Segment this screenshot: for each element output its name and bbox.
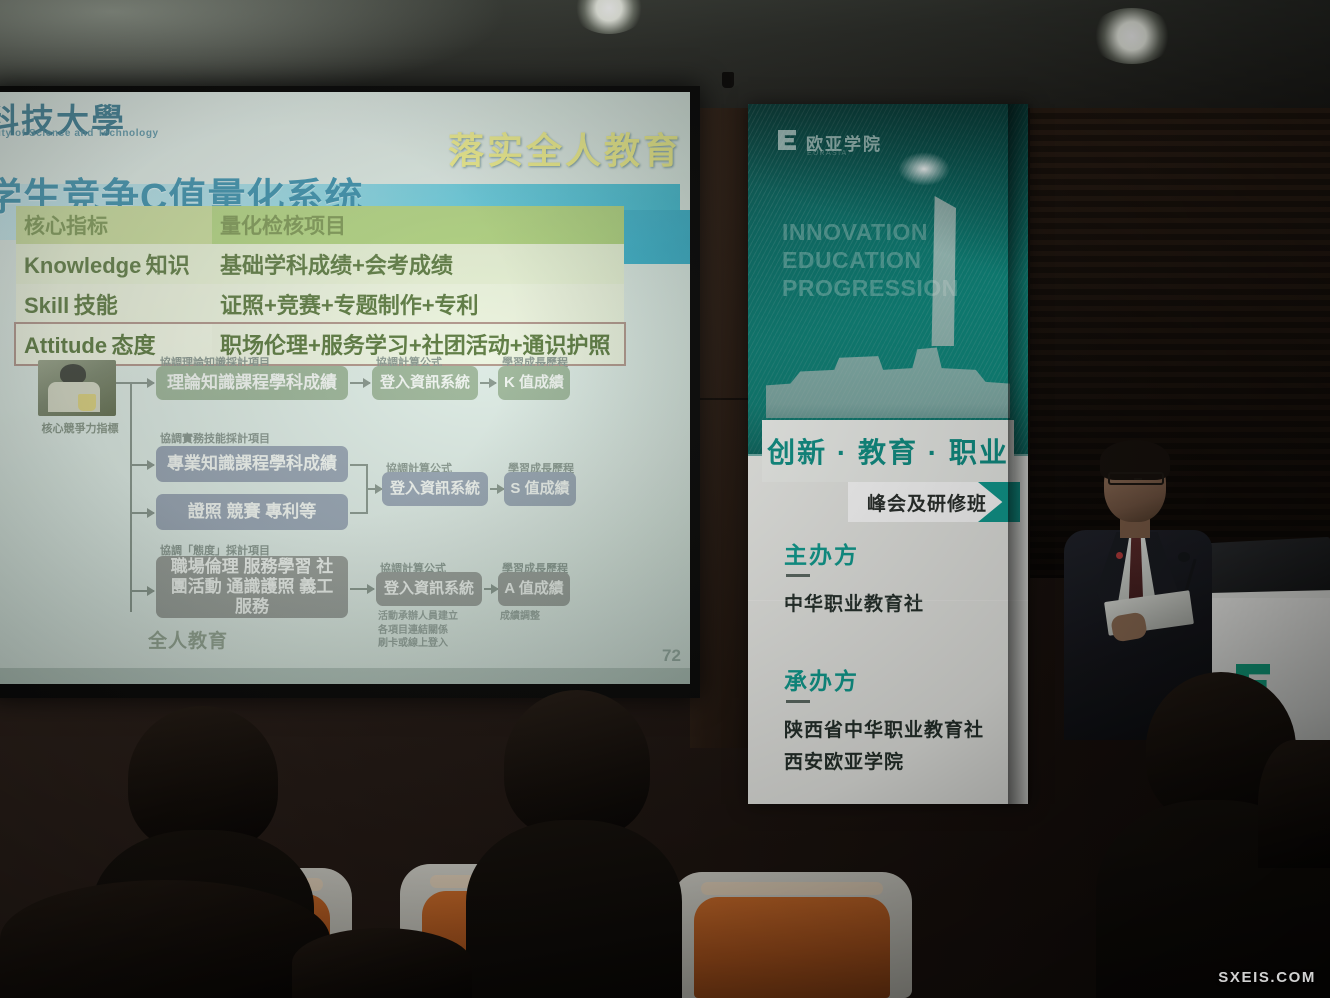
attendee-head (1258, 740, 1330, 868)
ceiling-fitting (722, 72, 734, 88)
flow-arrow (350, 382, 370, 384)
seat (672, 872, 912, 998)
flow-box-login-1: 登入資訊系統 (372, 366, 478, 400)
banner-subtitle: 峰会及研修班 (852, 482, 1002, 522)
flow-arrow (490, 488, 504, 490)
flow-arrow (480, 382, 496, 384)
banner-org-host: 中华职业教育社 (784, 590, 924, 619)
connector-stub (116, 382, 132, 384)
attendee-head (0, 880, 330, 998)
flow-arrow (350, 588, 374, 590)
core-competency-photo (38, 360, 116, 416)
banner-english-line: INNOVATION (782, 220, 928, 244)
table-cell-items: 证照+竞赛+专题制作+专利 (212, 284, 624, 324)
watermark: SXEIS.COM (1218, 969, 1316, 986)
banner-english-line: PROGRESSION (782, 276, 959, 300)
flow-caption-2: 協調實務技能採計項目 (160, 430, 270, 446)
flow-arrow (484, 588, 498, 590)
banner-glare (898, 152, 950, 186)
ceiling-light-icon (1090, 8, 1174, 64)
slide-flow-diagram: 核心競爭力指標 協調理論知識採計項目 理論知識課程學科成績 協調計算公式 登入資… (14, 352, 634, 662)
flow-arrow (132, 590, 154, 592)
flow-box-theory: 理論知識課程學科成績 (156, 366, 348, 400)
banner-slogan: 创新 · 教育 · 职业 (762, 420, 1014, 482)
indicator-cn: 知识 (146, 253, 190, 278)
indicator-en: Skill (24, 293, 69, 318)
flow-note-formula: 活動承辦人員建立 各項目連結關係 刷卡或線上登入 (378, 610, 458, 651)
flow-arrow (366, 488, 382, 490)
speaker-lapel-pin (1116, 552, 1123, 559)
photo-scene: 科技大學 ...ity of Science and Technology 落实… (0, 0, 1330, 998)
flow-arrow (132, 382, 154, 384)
table-header-label: 量化检核项目 (220, 215, 346, 238)
flow-box-major: 專業知識課程學科成績 (156, 446, 348, 482)
slide-table: 核心指标 量化检核项目 Knowledge 知识 基础学科成绩+会考成绩 Ski… (16, 206, 624, 364)
attendee-head (292, 928, 472, 998)
screen-bottom-edge (0, 668, 690, 684)
holistic-education-label: 全人教育 (148, 626, 228, 653)
flow-box-login-2: 登入資訊系統 (382, 472, 488, 506)
indicator-en: Knowledge (24, 253, 141, 278)
flow-box-attitude: 職場倫理 服務學習 社團活動 通識護照 義工服務 (156, 556, 348, 618)
flow-box-svalue: S 值成績 (504, 472, 576, 506)
table-cell-items: 基础学科成绩+会考成绩 (212, 244, 624, 284)
flow-note-result: 成績調整 (500, 610, 540, 624)
table-header-cell: 量化检核项目 (212, 206, 624, 244)
flow-box-kvalue: K 值成績 (498, 366, 570, 400)
flow-box-avalue: A 值成績 (498, 572, 570, 606)
table-cell-indicator: Knowledge 知识 (16, 244, 212, 284)
table-header-label: 核心指标 (24, 215, 108, 238)
banner-rule (786, 574, 810, 577)
slide-page-number: 72 (662, 646, 681, 666)
banner-org-organizer-2: 西安欧亚学院 (784, 748, 904, 777)
table-header-row: 核心指标 量化检核项目 (16, 206, 624, 244)
items-text: 基础学科成绩+会考成绩 (220, 253, 453, 278)
eurasia-logo-icon (778, 130, 796, 150)
banner-crease (748, 600, 1028, 601)
flow-arrow (132, 464, 154, 466)
core-competency-label: 核心競爭力指標 (24, 420, 136, 436)
banner-logo-sub: EURASIA (807, 150, 848, 157)
university-name-en: ...ity of Science and Technology (0, 128, 159, 139)
table-cell-indicator: Skill 技能 (16, 284, 212, 324)
flow-box-login-3: 登入資訊系統 (376, 572, 482, 606)
microphone-icon (1178, 552, 1190, 562)
banner-org-organizer-1: 陕西省中华职业教育社 (784, 716, 984, 745)
indicator-cn: 技能 (74, 293, 118, 318)
speaker-glasses-icon (1108, 472, 1164, 485)
flow-box-cert: 證照 競賽 專利等 (156, 494, 348, 530)
banner-section-title-host: 主办方 (784, 536, 859, 570)
rollup-banner: 欧亚学院 EURASIA INNOVATION EDUCATION PROGRE… (748, 104, 1028, 804)
table-row: Skill 技能 证照+竞赛+专题制作+专利 (16, 284, 624, 324)
banner-english-line: EDUCATION (782, 248, 922, 272)
banner-rule (786, 700, 810, 703)
table-header-cell: 核心指标 (16, 206, 212, 244)
table-row: Knowledge 知识 基础学科成绩+会考成绩 (16, 244, 624, 284)
connector-trunk (130, 382, 132, 612)
flow-arrow (132, 512, 154, 514)
attendee-shoulders (466, 820, 682, 998)
banner-edge-shadow (1008, 104, 1034, 804)
items-text: 证照+竞赛+专题制作+专利 (220, 293, 479, 318)
slide-accent-text: 落实全人教育 (448, 122, 682, 174)
attendee-head (504, 690, 650, 838)
banner-section-title-organizer: 承办方 (784, 662, 859, 696)
